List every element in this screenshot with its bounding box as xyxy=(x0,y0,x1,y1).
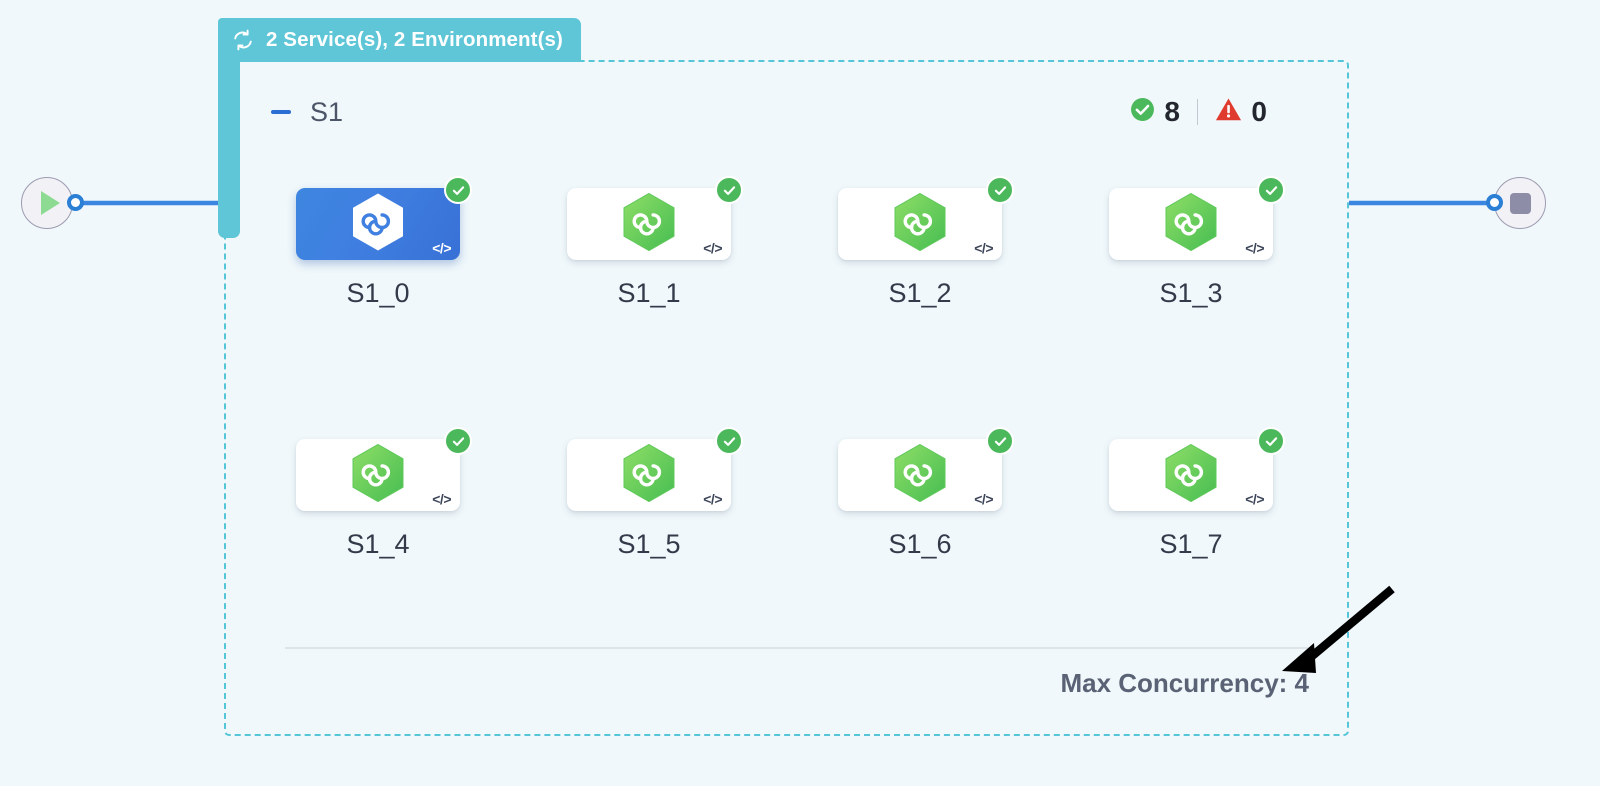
node-label: S1_7 xyxy=(1109,531,1273,558)
code-icon[interactable]: </> xyxy=(432,491,451,507)
start-node[interactable] xyxy=(21,177,73,229)
node-card[interactable]: </> xyxy=(1109,439,1273,511)
hexagon-infinity-icon xyxy=(892,443,948,508)
status-badge-success xyxy=(715,176,743,204)
node-card[interactable]: </> xyxy=(567,188,731,260)
node-label: S1_3 xyxy=(1109,280,1273,307)
workflow-canvas[interactable]: 2 Service(s), 2 Environment(s) S1 8 xyxy=(0,0,1600,786)
status-badge-success xyxy=(1257,176,1285,204)
code-icon[interactable]: </> xyxy=(974,240,993,256)
end-node-input-handle[interactable] xyxy=(1486,194,1503,211)
code-icon[interactable]: </> xyxy=(974,491,993,507)
status-badge-success xyxy=(986,427,1014,455)
code-icon[interactable]: </> xyxy=(703,240,722,256)
error-count: 0 xyxy=(1251,98,1267,126)
hexagon-infinity-icon xyxy=(621,443,677,508)
node-card[interactable]: </> xyxy=(296,439,460,511)
hexagon-infinity-icon xyxy=(621,192,677,257)
play-icon xyxy=(41,191,60,215)
group-title: S1 xyxy=(310,97,343,128)
status-counts: 8 0 xyxy=(1130,97,1267,127)
node-label: S1_4 xyxy=(296,531,460,558)
group-summary-label: 2 Service(s), 2 Environment(s) xyxy=(266,28,563,52)
code-icon[interactable]: </> xyxy=(1245,491,1264,507)
node-s1_4[interactable]: </> S1_4 xyxy=(296,439,472,558)
code-icon[interactable]: </> xyxy=(1245,240,1264,256)
node-card[interactable]: </> xyxy=(567,439,731,511)
node-card[interactable]: </> xyxy=(838,439,1002,511)
node-label: S1_1 xyxy=(567,280,731,307)
node-card[interactable]: </> xyxy=(838,188,1002,260)
loop-repeat-icon xyxy=(231,28,255,52)
node-s1_7[interactable]: </> S1_7 xyxy=(1109,439,1285,558)
node-label: S1_6 xyxy=(838,531,1002,558)
node-label: S1_5 xyxy=(567,531,731,558)
hexagon-infinity-icon xyxy=(1163,192,1219,257)
node-card[interactable]: </> xyxy=(296,188,460,260)
group-header: S1 8 xyxy=(248,90,1323,134)
hexagon-infinity-icon xyxy=(350,443,406,508)
success-count-chip[interactable]: 8 xyxy=(1130,97,1180,127)
check-circle-icon xyxy=(1130,97,1155,127)
stop-icon xyxy=(1510,193,1531,214)
status-badge-success xyxy=(444,176,472,204)
node-s1_2[interactable]: </> S1_2 xyxy=(838,188,1014,307)
collapse-toggle-button[interactable] xyxy=(268,99,294,125)
hexagon-infinity-icon xyxy=(1163,443,1219,508)
code-icon[interactable]: </> xyxy=(432,240,451,256)
start-node-output-handle[interactable] xyxy=(67,194,84,211)
code-icon[interactable]: </> xyxy=(703,491,722,507)
hexagon-infinity-icon xyxy=(350,192,406,257)
status-badge-success xyxy=(986,176,1014,204)
service-group-container[interactable] xyxy=(224,60,1349,736)
status-badge-success xyxy=(444,427,472,455)
hexagon-infinity-icon xyxy=(892,192,948,257)
max-concurrency-label: Max Concurrency: 4 xyxy=(0,668,1309,699)
minus-icon xyxy=(271,110,291,114)
node-s1_3[interactable]: </> S1_3 xyxy=(1109,188,1285,307)
status-badge-success xyxy=(1257,427,1285,455)
node-label: S1_0 xyxy=(296,280,460,307)
status-count-separator xyxy=(1197,99,1199,125)
node-s1_6[interactable]: </> S1_6 xyxy=(838,439,1014,558)
node-label: S1_2 xyxy=(838,280,1002,307)
warning-triangle-icon xyxy=(1215,97,1242,127)
success-count: 8 xyxy=(1164,98,1180,126)
node-card[interactable]: </> xyxy=(1109,188,1273,260)
node-s1_5[interactable]: </> S1_5 xyxy=(567,439,743,558)
group-footer-divider xyxy=(285,647,1308,649)
node-s1_0[interactable]: </> S1_0 xyxy=(296,188,472,307)
node-s1_1[interactable]: </> S1_1 xyxy=(567,188,743,307)
status-badge-success xyxy=(715,427,743,455)
group-summary-badge[interactable]: 2 Service(s), 2 Environment(s) xyxy=(218,18,581,62)
error-count-chip[interactable]: 0 xyxy=(1215,97,1267,127)
